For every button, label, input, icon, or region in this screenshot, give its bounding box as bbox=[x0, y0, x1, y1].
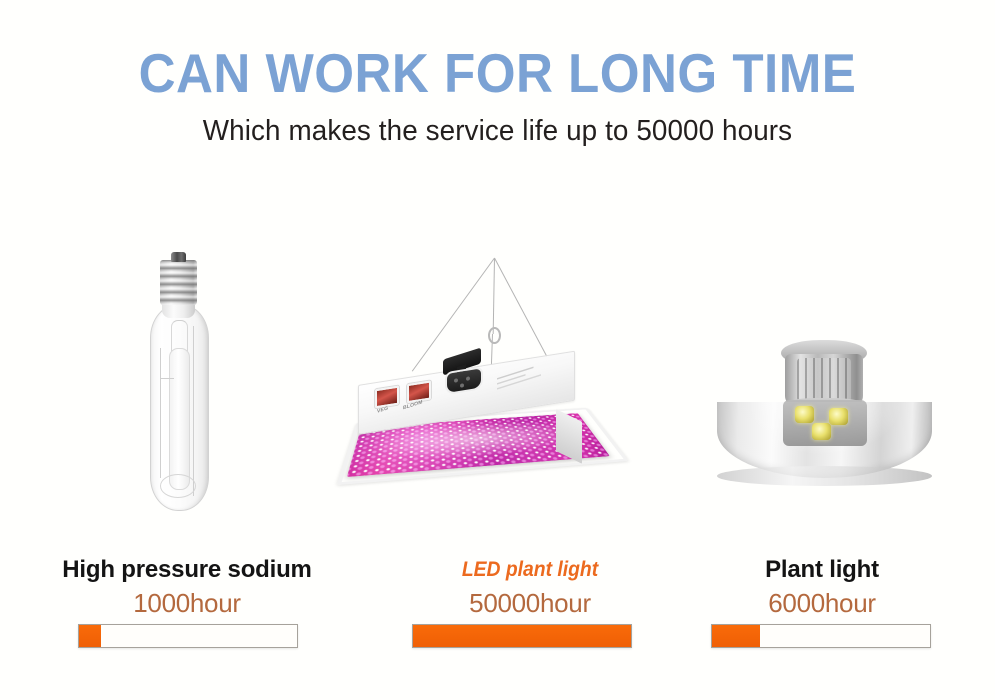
bar-fill bbox=[413, 625, 631, 647]
power-socket-icon bbox=[447, 369, 481, 393]
product-column-high-pressure-sodium bbox=[38, 230, 338, 530]
bulb-contact-tip bbox=[171, 252, 186, 262]
bulb-support-wire-cross bbox=[160, 378, 174, 379]
bulb-support-wire-right bbox=[193, 326, 194, 496]
led-grow-panel-image: VEG BLOOM bbox=[348, 230, 648, 530]
lifetime-bar-plant-light bbox=[711, 624, 931, 648]
spec-label-print bbox=[497, 360, 549, 392]
page-subtitle: Which makes the service life up to 50000… bbox=[20, 113, 975, 149]
product-caption-led-plant-light: LED plant light 50000hour bbox=[380, 556, 680, 618]
bloom-switch-label: BLOOM bbox=[403, 399, 423, 411]
product-name: High pressure sodium bbox=[37, 556, 337, 584]
product-name: Plant light bbox=[672, 556, 972, 584]
comparison-infographic: CAN WORK FOR LONG TIME Which makes the s… bbox=[0, 0, 995, 700]
led-chip bbox=[812, 423, 831, 440]
product-hours: 6000hour bbox=[672, 588, 972, 618]
product-caption-plant-light: Plant light 6000hour bbox=[672, 556, 972, 618]
hanging-wire-left bbox=[412, 258, 495, 372]
led-chip bbox=[829, 408, 848, 425]
bulb-screw-base-icon bbox=[160, 260, 197, 305]
product-column-plant-light bbox=[672, 230, 972, 530]
product-name: LED plant light bbox=[392, 556, 668, 584]
high-bay-fins bbox=[797, 358, 851, 402]
lifetime-bar-high-pressure-sodium bbox=[78, 624, 298, 648]
led-panel-body: VEG BLOOM bbox=[358, 385, 590, 495]
lifetime-bar-led-plant-light bbox=[412, 624, 632, 648]
page-title: CAN WORK FOR LONG TIME bbox=[35, 44, 960, 102]
high-bay-rim bbox=[717, 466, 932, 486]
product-column-led-plant-light: VEG BLOOM bbox=[348, 230, 648, 530]
hps-bulb-image bbox=[138, 252, 218, 512]
hanging-wire-center bbox=[493, 258, 495, 334]
product-caption-high-pressure-sodium: High pressure sodium 1000hour bbox=[37, 556, 337, 618]
bar-fill bbox=[712, 625, 760, 647]
product-hours: 50000hour bbox=[380, 588, 680, 618]
bulb-support-wire-left bbox=[160, 348, 161, 478]
hanging-hook-icon bbox=[488, 327, 501, 344]
high-bay-led-chips bbox=[793, 406, 857, 440]
bulb-arc-foot bbox=[160, 474, 196, 498]
bulb-arc-tube bbox=[169, 348, 190, 490]
bar-fill bbox=[79, 625, 101, 647]
bulb-arc-mount bbox=[171, 320, 188, 351]
led-chip bbox=[795, 406, 814, 423]
product-hours: 1000hour bbox=[37, 588, 337, 618]
high-bay-led-image bbox=[717, 340, 932, 480]
